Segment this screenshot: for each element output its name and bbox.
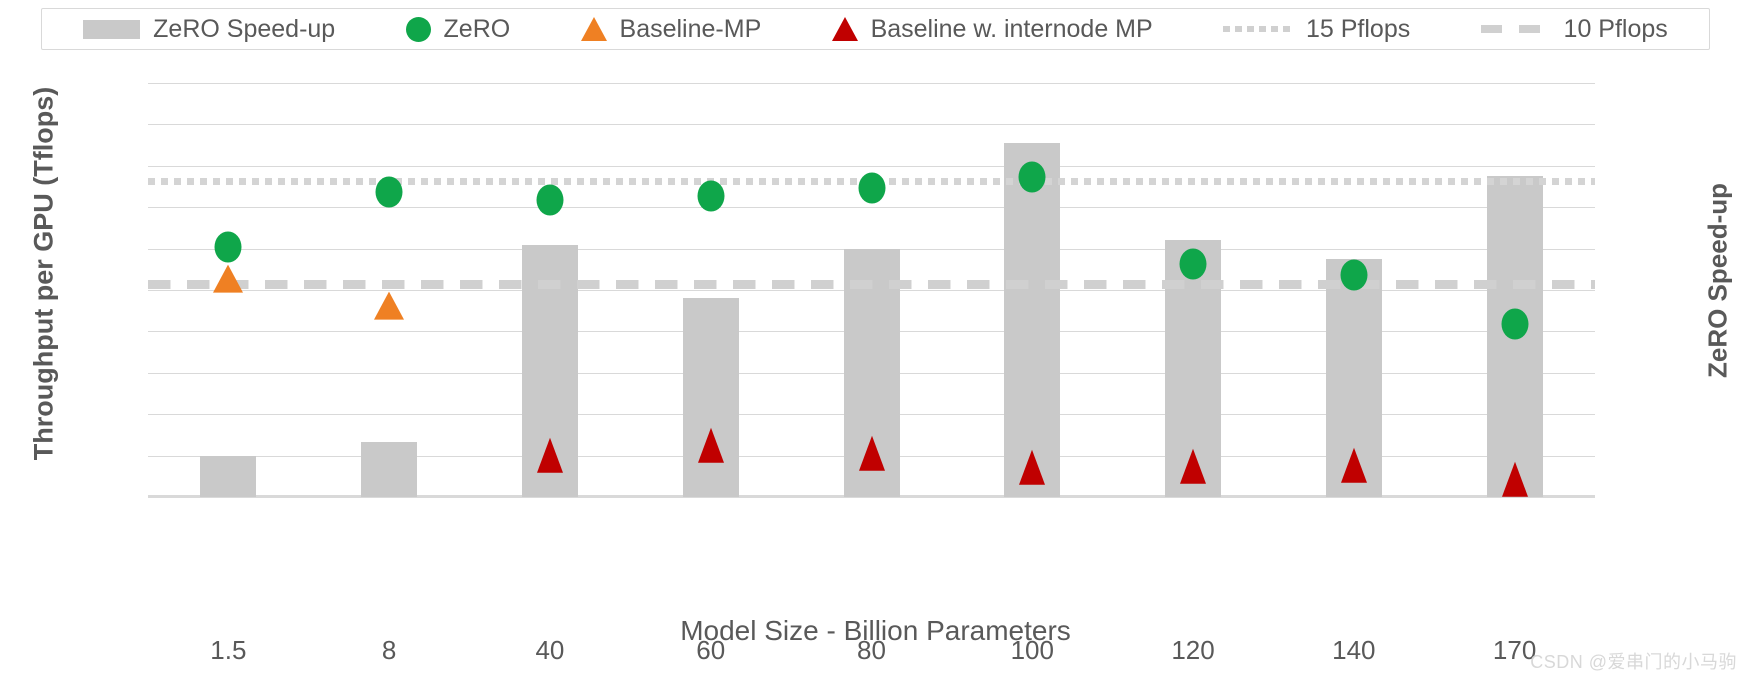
y-axis-title-left: Throughput per GPU (Tflops) [29,44,60,504]
marker-zero[interactable] [376,177,403,208]
dotted-line-icon [1223,26,1293,32]
triangle-marker-icon [581,17,607,41]
legend-item-baseline-mp[interactable]: Baseline-MP [581,17,762,42]
marker-zero[interactable] [536,184,563,215]
marker-zero[interactable] [1180,249,1207,280]
legend-label: Baseline w. internode MP [871,17,1153,42]
legend-label: ZeRO Speed-up [153,17,335,42]
x-axis-tick: 1.5 [210,635,246,666]
marker-zero[interactable] [1340,260,1367,291]
marker-baseline-mp[interactable] [374,291,404,319]
circle-marker-icon [406,17,431,42]
marker-zero[interactable] [1501,308,1528,339]
legend-label: 15 Pflops [1306,17,1410,42]
watermark: CSDN @爱串门的小马驹 [1530,648,1737,674]
triangle-marker-icon [832,17,858,41]
marker-baseline-w-internode-mp[interactable] [698,427,724,462]
legend-item-15-pflops[interactable]: 15 Pflops [1223,17,1410,42]
marker-baseline-w-internode-mp[interactable] [1019,450,1045,485]
bar-zero-speedup[interactable] [361,442,417,497]
bar-zero-speedup[interactable] [200,456,256,497]
x-axis-tick: 100 [1011,635,1054,666]
x-axis-tick: 60 [696,635,725,666]
reference-line-10-pflops [148,280,1595,289]
marker-baseline-w-internode-mp[interactable] [537,438,563,473]
x-axis-tick: 120 [1171,635,1214,666]
x-axis-tick: 80 [857,635,886,666]
bar-swatch-icon [83,20,140,39]
marker-zero[interactable] [215,231,242,262]
x-axis-tick: 40 [535,635,564,666]
legend-label: 10 Pflops [1564,17,1668,42]
y-axis-title-right: ZeRO Speed-up [1703,116,1734,446]
x-axis-tick: 140 [1332,635,1375,666]
gridline [148,124,1595,125]
marker-baseline-w-internode-mp[interactable] [859,436,885,471]
marker-baseline-w-internode-mp[interactable] [1502,462,1528,497]
legend-item-baseline-internode-mp[interactable]: Baseline w. internode MP [832,17,1153,42]
bar-zero-speedup[interactable] [1004,143,1060,497]
gridline [148,207,1595,208]
gridline [148,83,1595,84]
legend-item-zero-speedup[interactable]: ZeRO Speed-up [83,17,335,42]
chart-legend: ZeRO Speed-up ZeRO Baseline-MP Baseline … [41,8,1710,50]
marker-baseline-w-internode-mp[interactable] [1180,449,1206,484]
gridline [148,497,1595,498]
bar-zero-speedup[interactable] [683,298,739,497]
marker-zero[interactable] [697,180,724,211]
marker-baseline-w-internode-mp[interactable] [1341,448,1367,483]
legend-item-zero[interactable]: ZeRO [406,17,511,42]
legend-label: Baseline-MP [620,17,762,42]
marker-baseline-mp[interactable] [213,265,243,293]
legend-item-10-pflops[interactable]: 10 Pflops [1481,17,1668,42]
gridline [148,166,1595,167]
x-axis-tick: 8 [382,635,396,666]
marker-zero[interactable] [858,173,885,204]
dashed-line-icon [1481,25,1551,33]
legend-label: ZeRO [444,17,511,42]
chart-plot-area: 051015202530354045500246810121.584060801… [148,83,1595,497]
marker-zero[interactable] [1019,162,1046,193]
